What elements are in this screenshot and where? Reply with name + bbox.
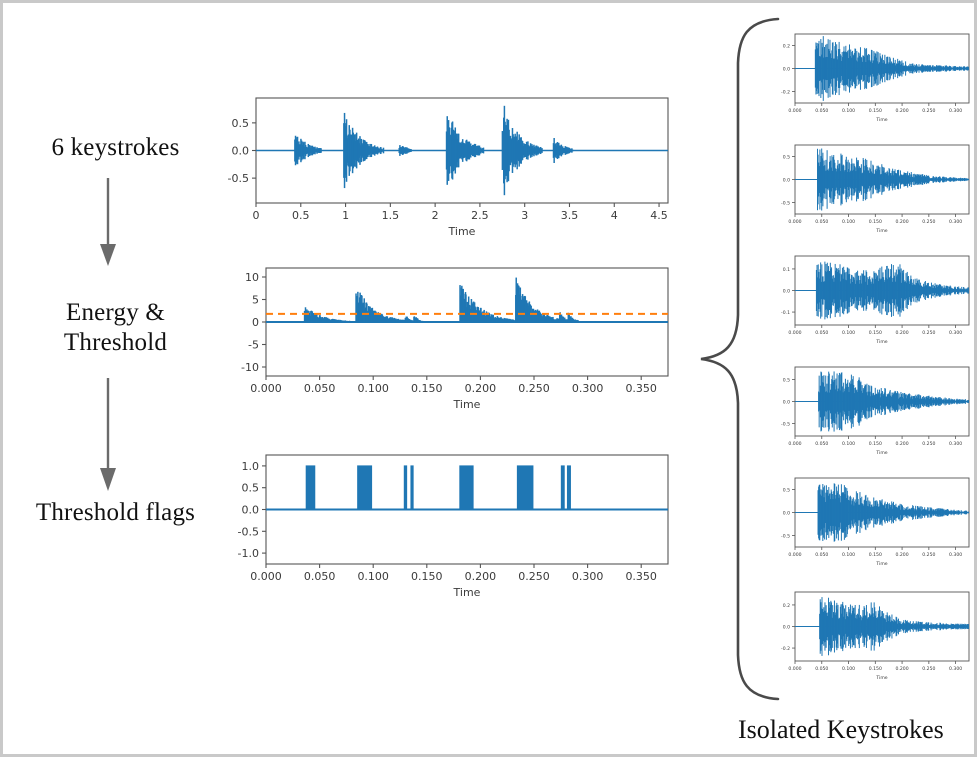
svg-text:2.5: 2.5 bbox=[471, 209, 489, 222]
svg-text:1.0: 1.0 bbox=[242, 460, 260, 473]
svg-text:-0.2: -0.2 bbox=[781, 90, 790, 96]
svg-text:4: 4 bbox=[611, 209, 618, 222]
svg-text:0.5: 0.5 bbox=[292, 209, 310, 222]
svg-text:0.5: 0.5 bbox=[783, 155, 790, 161]
isolated-keystroke-panel-6: 0.0000.0500.1000.1500.2000.2500.3000.20.… bbox=[765, 583, 977, 687]
svg-text:0.150: 0.150 bbox=[869, 666, 882, 672]
svg-text:1: 1 bbox=[342, 209, 349, 222]
svg-text:0.000: 0.000 bbox=[788, 219, 801, 225]
svg-text:0.000: 0.000 bbox=[250, 570, 282, 583]
svg-text:0.150: 0.150 bbox=[869, 219, 882, 225]
svg-text:0.000: 0.000 bbox=[788, 666, 801, 672]
plot-energy-threshold: 0.0000.0500.1000.1500.2000.2500.3000.350… bbox=[218, 258, 678, 418]
svg-text:0.0: 0.0 bbox=[783, 67, 790, 73]
svg-text:0: 0 bbox=[253, 209, 260, 222]
svg-text:0.300: 0.300 bbox=[949, 441, 962, 447]
svg-text:0.050: 0.050 bbox=[815, 666, 828, 672]
svg-text:0.300: 0.300 bbox=[949, 330, 962, 336]
svg-text:0.000: 0.000 bbox=[788, 441, 801, 447]
arrow-down-1 bbox=[88, 178, 128, 268]
svg-text:0.200: 0.200 bbox=[895, 441, 908, 447]
svg-text:0.100: 0.100 bbox=[842, 441, 855, 447]
svg-text:0.0: 0.0 bbox=[242, 504, 260, 517]
svg-text:10: 10 bbox=[245, 271, 259, 284]
svg-text:0.250: 0.250 bbox=[922, 552, 935, 558]
svg-text:0.150: 0.150 bbox=[869, 441, 882, 447]
svg-text:0.200: 0.200 bbox=[895, 666, 908, 672]
svg-text:0.100: 0.100 bbox=[357, 570, 389, 583]
svg-text:0.350: 0.350 bbox=[625, 382, 657, 395]
arrow-down-2 bbox=[88, 378, 128, 493]
svg-text:0.000: 0.000 bbox=[788, 552, 801, 558]
svg-text:0.300: 0.300 bbox=[949, 219, 962, 225]
svg-text:-0.1: -0.1 bbox=[781, 310, 790, 316]
svg-text:Time: Time bbox=[875, 228, 887, 234]
svg-text:0: 0 bbox=[252, 316, 259, 329]
svg-text:0.0: 0.0 bbox=[783, 178, 790, 184]
svg-text:0.050: 0.050 bbox=[815, 552, 828, 558]
svg-text:0.150: 0.150 bbox=[869, 552, 882, 558]
svg-text:0.2: 0.2 bbox=[783, 44, 790, 50]
svg-text:2: 2 bbox=[432, 209, 439, 222]
svg-text:Time: Time bbox=[453, 586, 481, 599]
svg-text:0.050: 0.050 bbox=[815, 330, 828, 336]
svg-text:0.150: 0.150 bbox=[411, 570, 443, 583]
svg-text:Time: Time bbox=[875, 561, 887, 567]
isolated-keystroke-panel-3: 0.0000.0500.1000.1500.2000.2500.3000.10.… bbox=[765, 247, 977, 351]
svg-text:5: 5 bbox=[252, 294, 259, 307]
svg-text:0.200: 0.200 bbox=[895, 108, 908, 114]
stage-label-energy-line1: Energy & bbox=[13, 298, 218, 328]
svg-text:0.100: 0.100 bbox=[842, 219, 855, 225]
svg-text:Time: Time bbox=[448, 225, 476, 238]
svg-text:0.200: 0.200 bbox=[895, 219, 908, 225]
svg-text:0.050: 0.050 bbox=[815, 441, 828, 447]
svg-text:0.050: 0.050 bbox=[815, 108, 828, 114]
isolated-keystroke-panel-1: 0.0000.0500.1000.1500.2000.2500.3000.20.… bbox=[765, 25, 977, 129]
stage-label-keystrokes: 6 keystrokes bbox=[13, 133, 218, 163]
svg-text:0.1: 0.1 bbox=[783, 267, 790, 273]
svg-text:0.100: 0.100 bbox=[842, 330, 855, 336]
svg-text:0.150: 0.150 bbox=[869, 108, 882, 114]
svg-text:0.5: 0.5 bbox=[242, 482, 260, 495]
svg-text:0.100: 0.100 bbox=[357, 382, 389, 395]
svg-text:0.150: 0.150 bbox=[869, 330, 882, 336]
isolated-keystroke-panel-2: 0.0000.0500.1000.1500.2000.2500.3000.50.… bbox=[765, 136, 977, 240]
svg-text:0.250: 0.250 bbox=[922, 108, 935, 114]
svg-text:0.200: 0.200 bbox=[465, 570, 497, 583]
svg-text:0.5: 0.5 bbox=[783, 377, 790, 383]
svg-text:0.250: 0.250 bbox=[922, 330, 935, 336]
svg-text:0.350: 0.350 bbox=[625, 570, 657, 583]
svg-text:Time: Time bbox=[453, 398, 481, 411]
figure-canvas: 6 keystrokes Energy & Threshold Threshol… bbox=[0, 0, 977, 757]
svg-text:0.150: 0.150 bbox=[411, 382, 443, 395]
svg-text:4.5: 4.5 bbox=[650, 209, 668, 222]
svg-text:Time: Time bbox=[875, 117, 887, 123]
svg-text:0.300: 0.300 bbox=[949, 552, 962, 558]
svg-text:0.100: 0.100 bbox=[842, 552, 855, 558]
stage-label-threshold-flags-text: Threshold flags bbox=[36, 499, 195, 526]
svg-text:3.5: 3.5 bbox=[561, 209, 579, 222]
svg-text:-10: -10 bbox=[241, 361, 259, 374]
svg-text:0.000: 0.000 bbox=[788, 330, 801, 336]
svg-text:1.5: 1.5 bbox=[382, 209, 400, 222]
svg-text:0.100: 0.100 bbox=[842, 666, 855, 672]
svg-text:0.200: 0.200 bbox=[465, 382, 497, 395]
svg-text:0.300: 0.300 bbox=[949, 108, 962, 114]
svg-text:3: 3 bbox=[521, 209, 528, 222]
svg-text:0.000: 0.000 bbox=[250, 382, 282, 395]
svg-text:-0.5: -0.5 bbox=[228, 172, 249, 185]
stage-label-threshold-flags: Threshold flags bbox=[8, 498, 223, 528]
svg-text:0.000: 0.000 bbox=[788, 108, 801, 114]
plot-threshold-flags: 0.0000.0500.1000.1500.2000.2500.3000.350… bbox=[218, 443, 678, 608]
caption-text: Isolated Keystrokes bbox=[738, 715, 944, 744]
svg-text:0.200: 0.200 bbox=[895, 552, 908, 558]
svg-text:0.5: 0.5 bbox=[783, 488, 790, 494]
svg-text:0.0: 0.0 bbox=[783, 511, 790, 517]
svg-text:0.050: 0.050 bbox=[304, 382, 336, 395]
svg-text:0.250: 0.250 bbox=[518, 570, 550, 583]
svg-text:0.5: 0.5 bbox=[232, 117, 250, 130]
svg-text:0.300: 0.300 bbox=[949, 666, 962, 672]
svg-text:0.0: 0.0 bbox=[783, 400, 790, 406]
svg-text:Time: Time bbox=[875, 450, 887, 456]
svg-text:0.100: 0.100 bbox=[842, 108, 855, 114]
svg-text:-0.5: -0.5 bbox=[781, 422, 790, 428]
isolated-keystroke-panel-4: 0.0000.0500.1000.1500.2000.2500.3000.50.… bbox=[765, 358, 977, 462]
svg-text:0.250: 0.250 bbox=[922, 219, 935, 225]
stage-label-keystrokes-text: 6 keystrokes bbox=[51, 134, 179, 161]
svg-text:0.200: 0.200 bbox=[895, 330, 908, 336]
svg-text:-0.2: -0.2 bbox=[781, 646, 790, 652]
svg-text:Time: Time bbox=[875, 339, 887, 345]
svg-text:-0.5: -0.5 bbox=[781, 534, 790, 540]
stage-label-energy-line2: Threshold bbox=[13, 328, 218, 358]
svg-text:-1.0: -1.0 bbox=[238, 547, 259, 560]
svg-text:Time: Time bbox=[875, 675, 887, 681]
svg-text:0.0: 0.0 bbox=[232, 145, 250, 158]
svg-text:0.2: 0.2 bbox=[783, 603, 790, 609]
svg-text:0.300: 0.300 bbox=[572, 570, 604, 583]
svg-text:0.250: 0.250 bbox=[922, 666, 935, 672]
svg-text:0.0: 0.0 bbox=[783, 625, 790, 631]
svg-text:0.250: 0.250 bbox=[518, 382, 550, 395]
plot-raw-waveform: 00.511.522.533.544.50.50.0-0.5Time bbox=[218, 88, 678, 243]
caption-isolated-keystrokes: Isolated Keystrokes bbox=[738, 715, 944, 745]
stage-label-energy-threshold: Energy & Threshold bbox=[13, 298, 218, 357]
svg-text:-5: -5 bbox=[248, 339, 259, 352]
svg-text:0.050: 0.050 bbox=[815, 219, 828, 225]
isolated-keystroke-panel-5: 0.0000.0500.1000.1500.2000.2500.3000.50.… bbox=[765, 469, 977, 573]
svg-text:0.050: 0.050 bbox=[304, 570, 336, 583]
svg-text:0.250: 0.250 bbox=[922, 441, 935, 447]
svg-text:0.0: 0.0 bbox=[783, 289, 790, 295]
svg-text:-0.5: -0.5 bbox=[781, 201, 790, 207]
svg-text:0.300: 0.300 bbox=[572, 382, 604, 395]
svg-text:-0.5: -0.5 bbox=[238, 525, 259, 538]
